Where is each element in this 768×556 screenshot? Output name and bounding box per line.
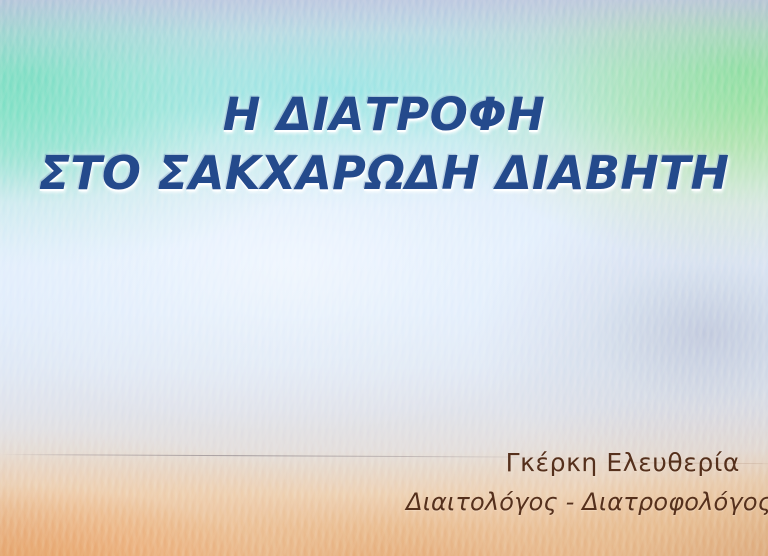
slide-byline: Γκέρκη Ελευθερία Διαιτολόγος - Διατροφολ… (0, 448, 768, 516)
presenter-role: Διαιτολόγος - Διατροφολόγος (0, 488, 768, 516)
title-line-1: Η ΔΙΑΤΡΟΦΗ (0, 92, 768, 138)
slide-title: Η ΔΙΑΤΡΟΦΗ ΣΤΟ ΣΑΚΧΑΡΩΔΗ ΔΙΑΒΗΤΗ (0, 92, 768, 197)
title-line-2: ΣΤΟ ΣΑΚΧΑΡΩΔΗ ΔΙΑΒΗΤΗ (0, 150, 768, 197)
presentation-slide: Η ΔΙΑΤΡΟΦΗ ΣΤΟ ΣΑΚΧΑΡΩΔΗ ΔΙΑΒΗΤΗ Γκέρκη … (0, 0, 768, 556)
presenter-name: Γκέρκη Ελευθερία (0, 448, 768, 477)
